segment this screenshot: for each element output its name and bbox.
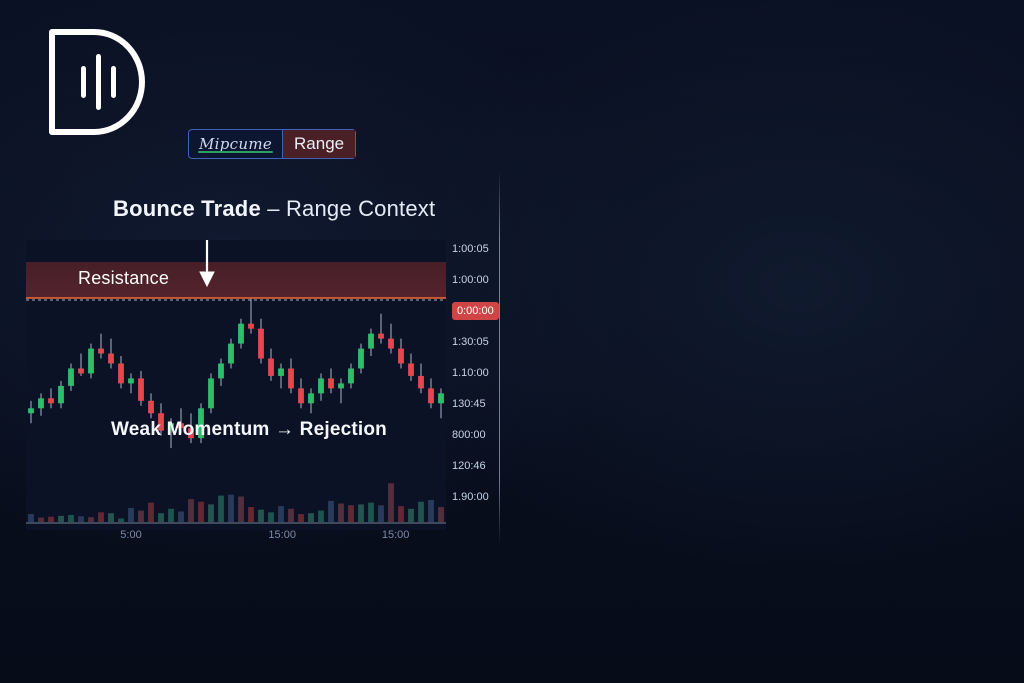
candle-body (108, 354, 114, 364)
candle-body (428, 388, 434, 403)
volume-bar (288, 509, 294, 522)
time-tick: 15:00 (382, 529, 410, 541)
volume-bar (58, 516, 64, 522)
page-title-left: Bounce Trade – Range Context (113, 196, 435, 222)
resistance-label-left: Resistance (78, 268, 169, 289)
candle-body (408, 363, 414, 375)
volume-bar (108, 513, 114, 522)
heading-light-left: – Range Context (267, 196, 435, 221)
badge-range[interactable]: Mipcume Range (188, 129, 356, 159)
candle-body (128, 378, 134, 383)
price-axis-left: 1:00:051:00:000:00:001:30:051.10:00130:4… (452, 234, 516, 513)
price-tick: 1:00:00 (452, 265, 516, 296)
flow-label-left: Weak Momentum → Rejection (111, 419, 387, 441)
candle-body (438, 393, 444, 403)
volume-bar (38, 518, 44, 522)
candle-body (388, 339, 394, 349)
price-tick: 1.90:00 (452, 482, 516, 513)
volume-bar (78, 516, 84, 522)
time-tick: 15:00 (268, 529, 296, 541)
candle-body (28, 408, 34, 413)
price-tick: 0:00:00 (452, 302, 499, 320)
badge-tag-range: Range (282, 130, 355, 158)
volume-bar (318, 511, 324, 522)
candle-body (118, 363, 124, 383)
candle-body (318, 378, 324, 393)
volume-bar (278, 506, 284, 522)
candle-body (278, 368, 284, 375)
candle-body (48, 398, 54, 403)
price-tick: 120:46 (452, 451, 516, 482)
candle-body (258, 329, 264, 359)
volume-bar (268, 512, 274, 522)
candle-body (268, 359, 274, 376)
volume-bar (338, 504, 344, 522)
volume-bar (198, 502, 204, 522)
candle-body (348, 368, 354, 383)
volume-bar (388, 483, 394, 522)
candle-body (218, 363, 224, 378)
candle-body (148, 401, 154, 413)
volume-bar (68, 515, 74, 522)
volume-bar (398, 506, 404, 522)
candle-body (228, 344, 234, 364)
price-tick: 800:00 (452, 420, 516, 451)
volume-bar (118, 518, 124, 522)
volume-bar (208, 504, 214, 522)
volume-bar (428, 500, 434, 522)
candle-body (78, 368, 84, 373)
volume-bar (128, 508, 134, 522)
candle-body (38, 398, 44, 408)
volume-bar (378, 505, 384, 522)
candle-body (308, 393, 314, 403)
slide-canvas: Mipcume Range Bounce Trade – Range Conte… (0, 0, 1024, 683)
candle-body (398, 349, 404, 364)
candle-body (88, 349, 94, 374)
volume-bar (258, 510, 264, 522)
volume-bar (218, 496, 224, 522)
candle-body (368, 334, 374, 349)
badge-scribble-label: Mipcume (189, 130, 282, 158)
volume-bar (328, 501, 334, 522)
price-tick: 1:00:05 (452, 234, 516, 265)
volume-bar (408, 509, 414, 522)
volume-bar (238, 496, 244, 522)
candle-body (358, 349, 364, 369)
volume-bar (178, 511, 184, 522)
candle-body (58, 386, 64, 403)
candle-body (208, 378, 214, 408)
volume-bar (138, 511, 144, 522)
volume-bar (308, 513, 314, 522)
panel-expansion-context: ↗ ƆusƆ Trending Breakout & Retest – Expa… (512, 0, 1024, 683)
price-tick: 130:45 (452, 389, 516, 420)
panel-range-context: Mipcume Range Bounce Trade – Range Conte… (0, 0, 500, 683)
volume-bar (368, 503, 374, 522)
volume-bar (168, 509, 174, 522)
candle-body (298, 388, 304, 403)
volume-bar (298, 514, 304, 522)
volume-bar (348, 505, 354, 522)
volume-bar (418, 502, 424, 522)
candle-body (238, 324, 244, 344)
candle-body (248, 324, 254, 329)
volume-bar (158, 513, 164, 522)
price-tick: 1.10:00 (452, 358, 516, 389)
candle-body (378, 334, 384, 339)
candle-body (138, 378, 144, 400)
volume-bar (48, 517, 54, 522)
volume-bar (358, 504, 364, 522)
volume-bar (98, 512, 104, 522)
candle-body (328, 378, 334, 388)
candle-body (338, 383, 344, 388)
candle-body (68, 368, 74, 385)
price-tick: 1:30:05 (452, 327, 516, 358)
volume-bar (248, 507, 254, 522)
volume-bar (88, 517, 94, 522)
time-tick: 5:00 (120, 529, 141, 541)
volume-bar (438, 507, 444, 522)
candle-body (98, 349, 104, 354)
time-axis-left: 5:0015:0015:00 (26, 529, 446, 545)
heading-bold-left: Bounce Trade (113, 196, 261, 221)
volume-bar (148, 503, 154, 522)
candle-body (288, 368, 294, 388)
candle-body (418, 376, 424, 388)
volume-bar (28, 514, 34, 522)
volume-bar (188, 499, 194, 522)
volume-bar (228, 495, 234, 522)
